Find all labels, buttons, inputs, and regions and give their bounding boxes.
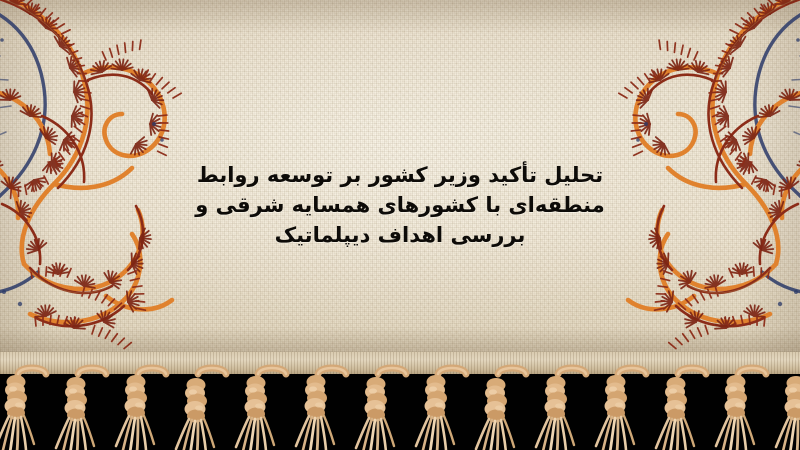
headline-line-2: منطقه‌ای با کشورهای همسایه شرقی و [120,190,680,220]
tassel-fringe [0,352,800,450]
banner-image: تحلیل تأکید وزیر کشور بر توسعه روابط منط… [0,0,800,450]
headline-line-3: بررسی اهداف دیپلماتیک [120,220,680,250]
headline-line-1: تحلیل تأکید وزیر کشور بر توسعه روابط [120,160,680,190]
fringe-tassels-icon [0,352,800,450]
headline-text: تحلیل تأکید وزیر کشور بر توسعه روابط منط… [0,160,800,250]
